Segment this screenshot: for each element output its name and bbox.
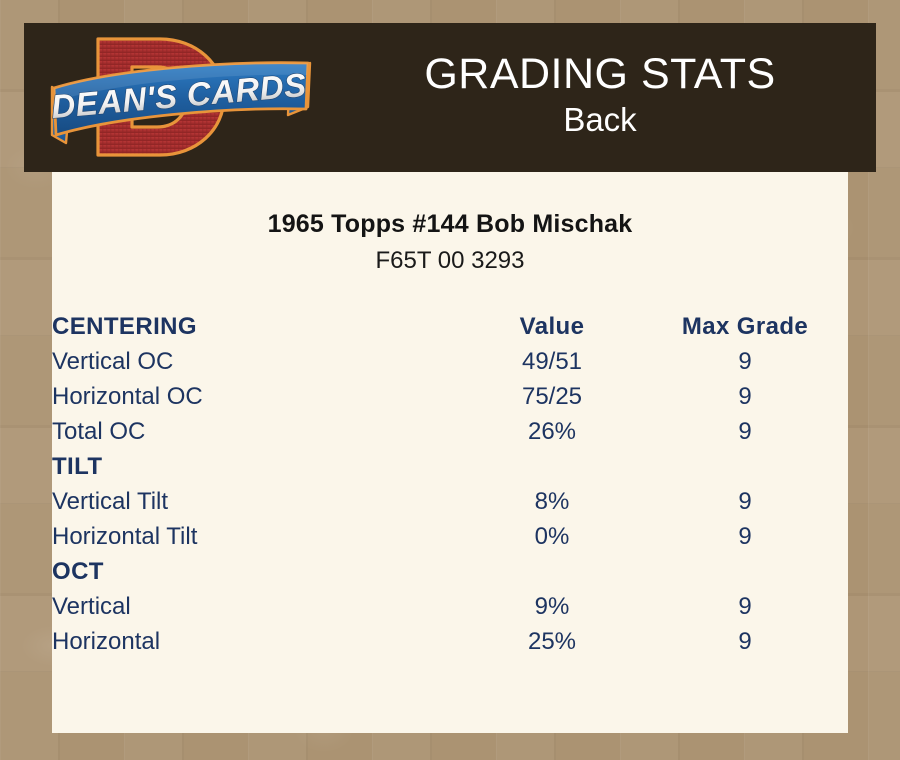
content-panel: 1965 Topps #144 Bob Mischak F65T 00 3293…	[52, 172, 848, 733]
grading-stats-table: CENTERINGValueMax GradeVertical OC49/519…	[52, 309, 848, 659]
stat-value: 49/51	[462, 344, 642, 379]
header-band: DEAN'S CARDS GRADING STATS Back	[24, 23, 876, 172]
deans-cards-logo[interactable]: DEAN'S CARDS	[46, 25, 316, 170]
stat-max-grade: 9	[642, 414, 848, 449]
stat-row: Vertical Tilt8%9	[52, 484, 848, 519]
stat-value: 75/25	[462, 379, 642, 414]
value-column-header	[462, 554, 642, 589]
stats-section-header: CENTERINGValueMax Grade	[52, 309, 848, 344]
section-name: OCT	[52, 554, 462, 589]
card-title: 1965 Topps #144 Bob Mischak	[52, 210, 848, 239]
card-serial-number: F65T 00 3293	[52, 247, 848, 275]
value-column-header: Value	[462, 309, 642, 344]
stat-row: Horizontal Tilt0%9	[52, 519, 848, 554]
max-grade-column-header	[642, 554, 848, 589]
stat-value: 9%	[462, 589, 642, 624]
stat-label: Total OC	[52, 414, 462, 449]
stat-max-grade: 9	[642, 344, 848, 379]
stat-label: Horizontal OC	[52, 379, 462, 414]
stat-row: Horizontal25%9	[52, 624, 848, 659]
max-grade-column-header: Max Grade	[642, 309, 848, 344]
stat-value: 25%	[462, 624, 642, 659]
stat-max-grade: 9	[642, 624, 848, 659]
stat-value: 8%	[462, 484, 642, 519]
value-column-header	[462, 449, 642, 484]
stat-max-grade: 9	[642, 589, 848, 624]
stats-section-header: OCT	[52, 554, 848, 589]
stats-section-header: TILT	[52, 449, 848, 484]
stat-value: 26%	[462, 414, 642, 449]
stats-table-body: CENTERINGValueMax GradeVertical OC49/519…	[52, 309, 848, 659]
stat-row: Vertical9%9	[52, 589, 848, 624]
stat-label: Vertical Tilt	[52, 484, 462, 519]
stat-value: 0%	[462, 519, 642, 554]
header-title-group: GRADING STATS Back	[324, 23, 876, 172]
stat-row: Horizontal OC75/259	[52, 379, 848, 414]
stat-label: Horizontal Tilt	[52, 519, 462, 554]
stat-max-grade: 9	[642, 484, 848, 519]
stat-label: Horizontal	[52, 624, 462, 659]
stat-row: Total OC26%9	[52, 414, 848, 449]
stat-label: Vertical OC	[52, 344, 462, 379]
stat-max-grade: 9	[642, 379, 848, 414]
page-subtitle: Back	[563, 99, 636, 140]
section-name: TILT	[52, 449, 462, 484]
logo-artwork: DEAN'S CARDS	[46, 25, 316, 170]
stat-max-grade: 9	[642, 519, 848, 554]
stat-row: Vertical OC49/519	[52, 344, 848, 379]
stat-label: Vertical	[52, 589, 462, 624]
page-title: GRADING STATS	[424, 51, 775, 97]
max-grade-column-header	[642, 449, 848, 484]
section-name: CENTERING	[52, 309, 462, 344]
